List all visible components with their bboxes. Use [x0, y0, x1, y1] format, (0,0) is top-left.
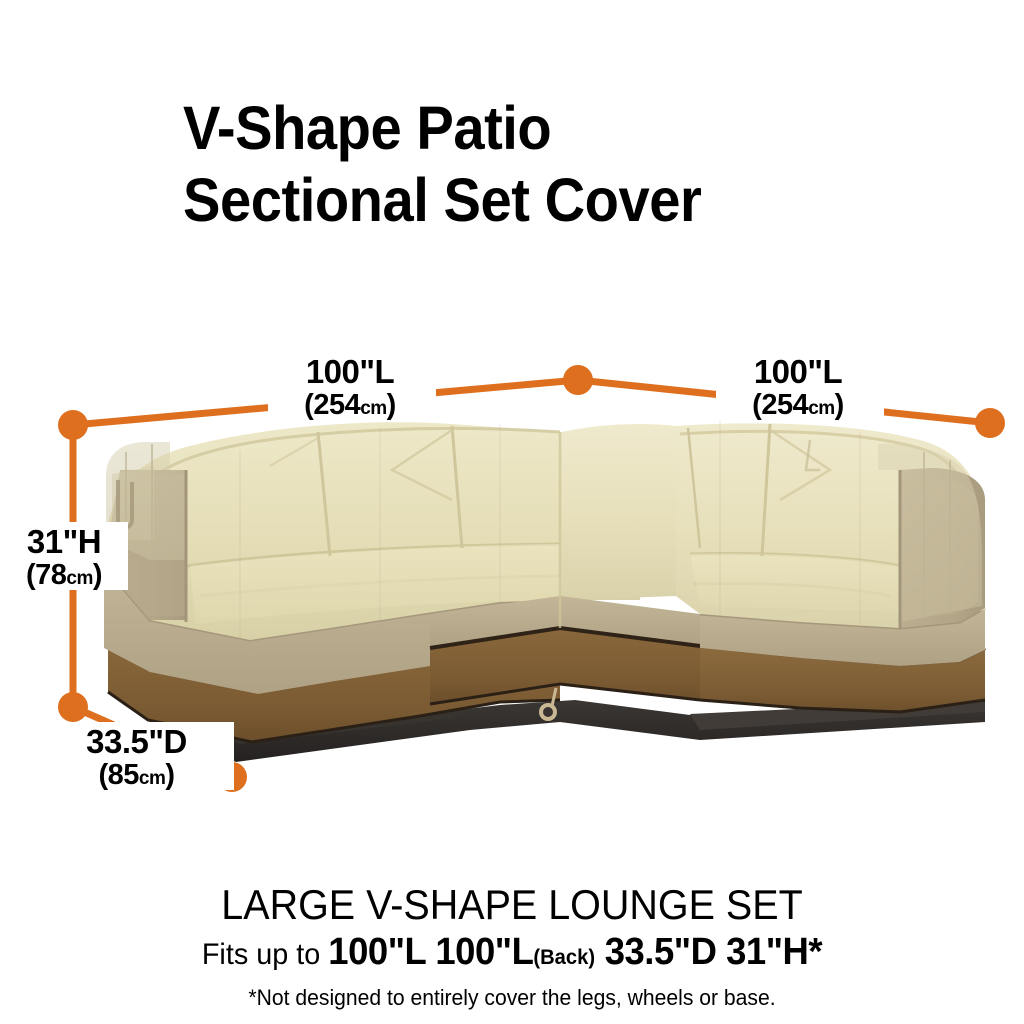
- fits-up-to-line: Fits up to 100"L 100"L(Back) 33.5"D 31"H…: [20, 931, 1003, 981]
- left-length-value: 100"L: [270, 355, 430, 388]
- fits-length-back: 100"L: [435, 931, 533, 973]
- product-infographic: V-Shape Patio Sectional Set Cover: [0, 0, 1024, 1024]
- endpoint-top-left: [58, 410, 88, 440]
- dimension-lines: [73, 380, 990, 777]
- dimension-label-depth: 33.5"D (85cm): [44, 725, 229, 790]
- right-length-value: 100"L: [718, 355, 878, 388]
- fits-depth: 33.5"D: [595, 931, 726, 973]
- fits-back-label: (Back): [533, 946, 595, 969]
- left-length-metric: (254cm): [270, 391, 430, 420]
- caption-block: LARGE V-SHAPE LOUNGE SET Fits up to 100"…: [0, 882, 1024, 1011]
- cover-right-wing: [676, 423, 985, 712]
- cover-center-corner: [430, 424, 700, 719]
- endpoint-bottom-left: [58, 692, 88, 722]
- depth-value: 33.5"D: [44, 725, 229, 758]
- title-line-1: V-Shape Patio: [183, 92, 937, 164]
- fits-height: 31"H*: [726, 931, 822, 973]
- height-metric: (78cm): [4, 561, 124, 590]
- fits-lead-text: Fits up to: [202, 938, 328, 971]
- cover-left-wing: [104, 422, 562, 742]
- dimension-label-right-length: 100"L (254cm): [718, 355, 878, 420]
- right-length-metric: (254cm): [718, 391, 878, 420]
- fits-length-front: 100"L: [328, 931, 435, 973]
- page-title: V-Shape Patio Sectional Set Cover: [183, 92, 1003, 236]
- footnote: *Not designed to entirely cover the legs…: [20, 985, 1003, 1011]
- dimension-label-left-length: 100"L (254cm): [270, 355, 430, 420]
- title-line-2: Sectional Set Cover: [183, 164, 937, 236]
- fabric-texture: [240, 420, 860, 640]
- dimension-label-height: 31"H (78cm): [4, 525, 124, 590]
- endpoint-apex: [563, 365, 593, 395]
- endpoint-top-right: [975, 408, 1005, 438]
- depth-metric: (85cm): [44, 761, 229, 790]
- furniture-base: [150, 700, 985, 762]
- product-line-name: LARGE V-SHAPE LOUNGE SET: [31, 882, 994, 928]
- height-value: 31"H: [4, 525, 124, 558]
